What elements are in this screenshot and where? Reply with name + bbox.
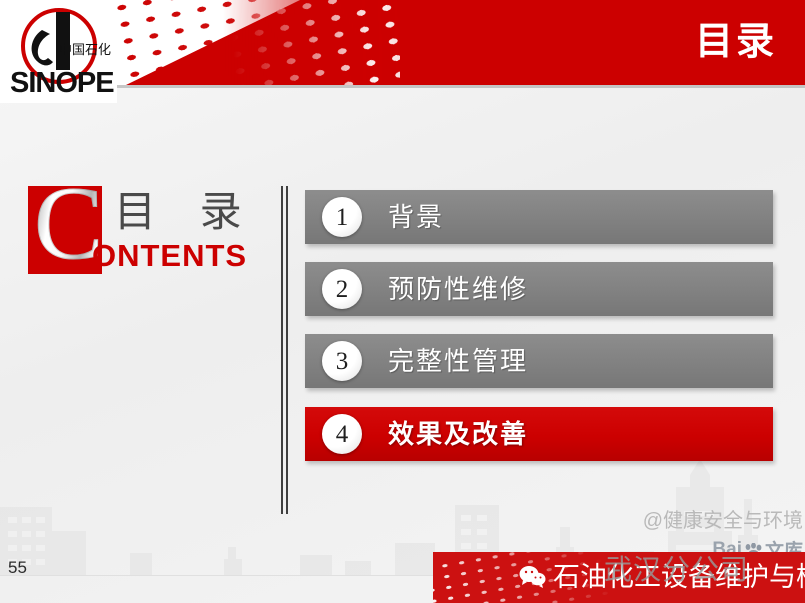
agenda-item-1[interactable]: 1 背景 bbox=[305, 190, 773, 244]
agenda-label-2: 预防性维修 bbox=[388, 272, 528, 306]
slide-canvas: 目录 中国石化 SINOPEC C 目 录 ONTENTS 1 背景 2 预防性… bbox=[0, 0, 805, 603]
svg-text:中国石化: 中国石化 bbox=[59, 42, 111, 57]
vertical-divider bbox=[281, 186, 287, 514]
contents-english-label: ONTENTS bbox=[92, 238, 247, 274]
agenda-number-badge-2: 2 bbox=[322, 269, 362, 309]
agenda-label-4: 效果及改善 bbox=[388, 417, 528, 451]
agenda-item-2[interactable]: 2 预防性维修 bbox=[305, 262, 773, 316]
agenda-number-badge-1: 1 bbox=[322, 197, 362, 237]
agenda-item-4[interactable]: 4 效果及改善 bbox=[305, 407, 773, 461]
company-watermark: 武汉分公司 bbox=[604, 553, 749, 587]
wechat-icon bbox=[519, 565, 546, 588]
svg-text:SINOPEC: SINOPEC bbox=[10, 67, 114, 99]
agenda-item-3[interactable]: 3 完整性管理 bbox=[305, 334, 773, 388]
agenda-number-badge-4: 4 bbox=[322, 414, 362, 454]
agenda-label-3: 完整性管理 bbox=[388, 344, 528, 378]
contents-logo-mark: C 目 录 ONTENTS bbox=[28, 186, 278, 278]
page-title: 目录 bbox=[695, 16, 777, 68]
contents-chinese-label: 目 录 bbox=[114, 184, 258, 240]
agenda-label-1: 背景 bbox=[388, 200, 444, 234]
header-banner: 目录 bbox=[0, 0, 805, 85]
page-number: 55 bbox=[8, 558, 27, 578]
agenda-number-badge-3: 3 bbox=[322, 341, 362, 381]
header-underline bbox=[0, 85, 805, 88]
hse-watermark: @健康安全与环境 bbox=[643, 508, 803, 534]
sinopec-logo: 中国石化 SINOPEC bbox=[0, 0, 117, 103]
halftone-pattern-decoration bbox=[110, 0, 400, 85]
